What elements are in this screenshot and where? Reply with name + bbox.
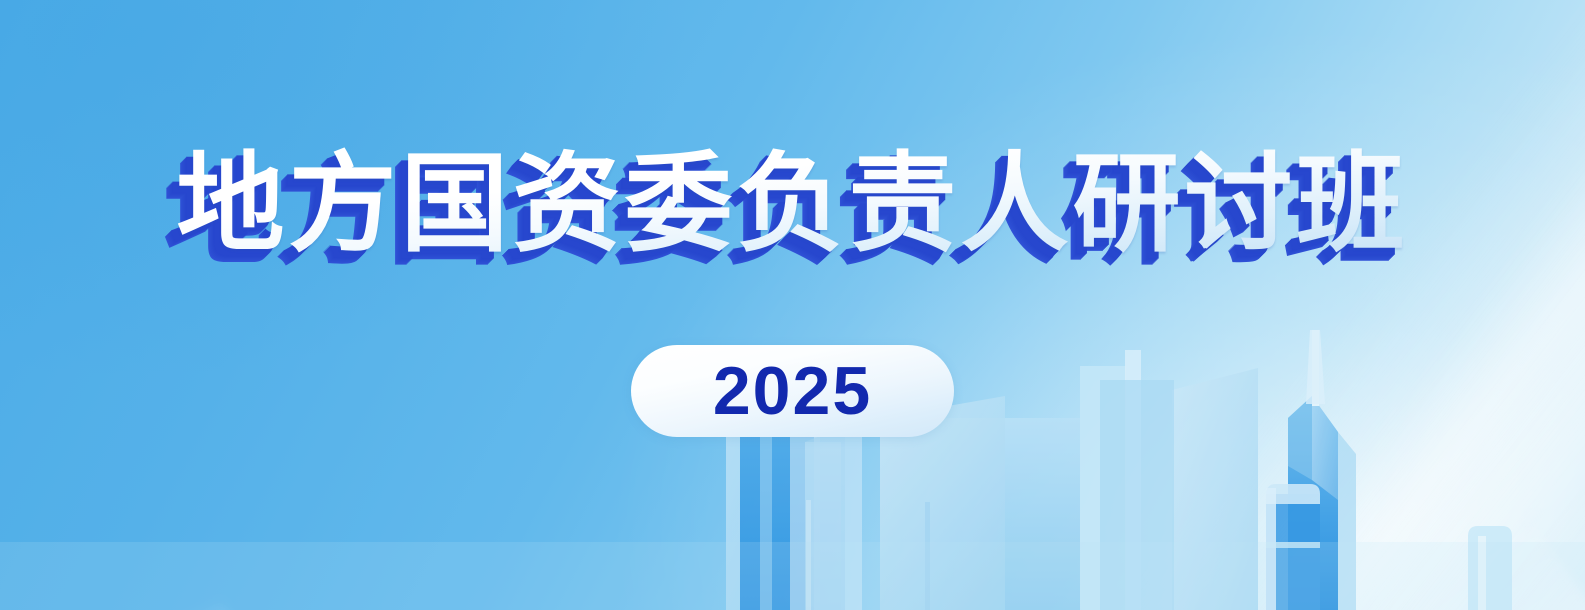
year-badge-label: 2025	[713, 357, 872, 425]
title-3d-wrapper: 地方国资委负责人研讨班 地方国资委负责人研讨班	[176, 140, 1408, 267]
page-title: 地方国资委负责人研讨班	[176, 140, 1408, 267]
banner-title-block: 地方国资委负责人研讨班 地方国资委负责人研讨班	[0, 140, 1585, 267]
year-badge-block: 2025	[0, 345, 1585, 437]
year-badge: 2025	[631, 345, 954, 437]
event-banner: 地方国资委负责人研讨班 地方国资委负责人研讨班 2025	[0, 0, 1585, 610]
